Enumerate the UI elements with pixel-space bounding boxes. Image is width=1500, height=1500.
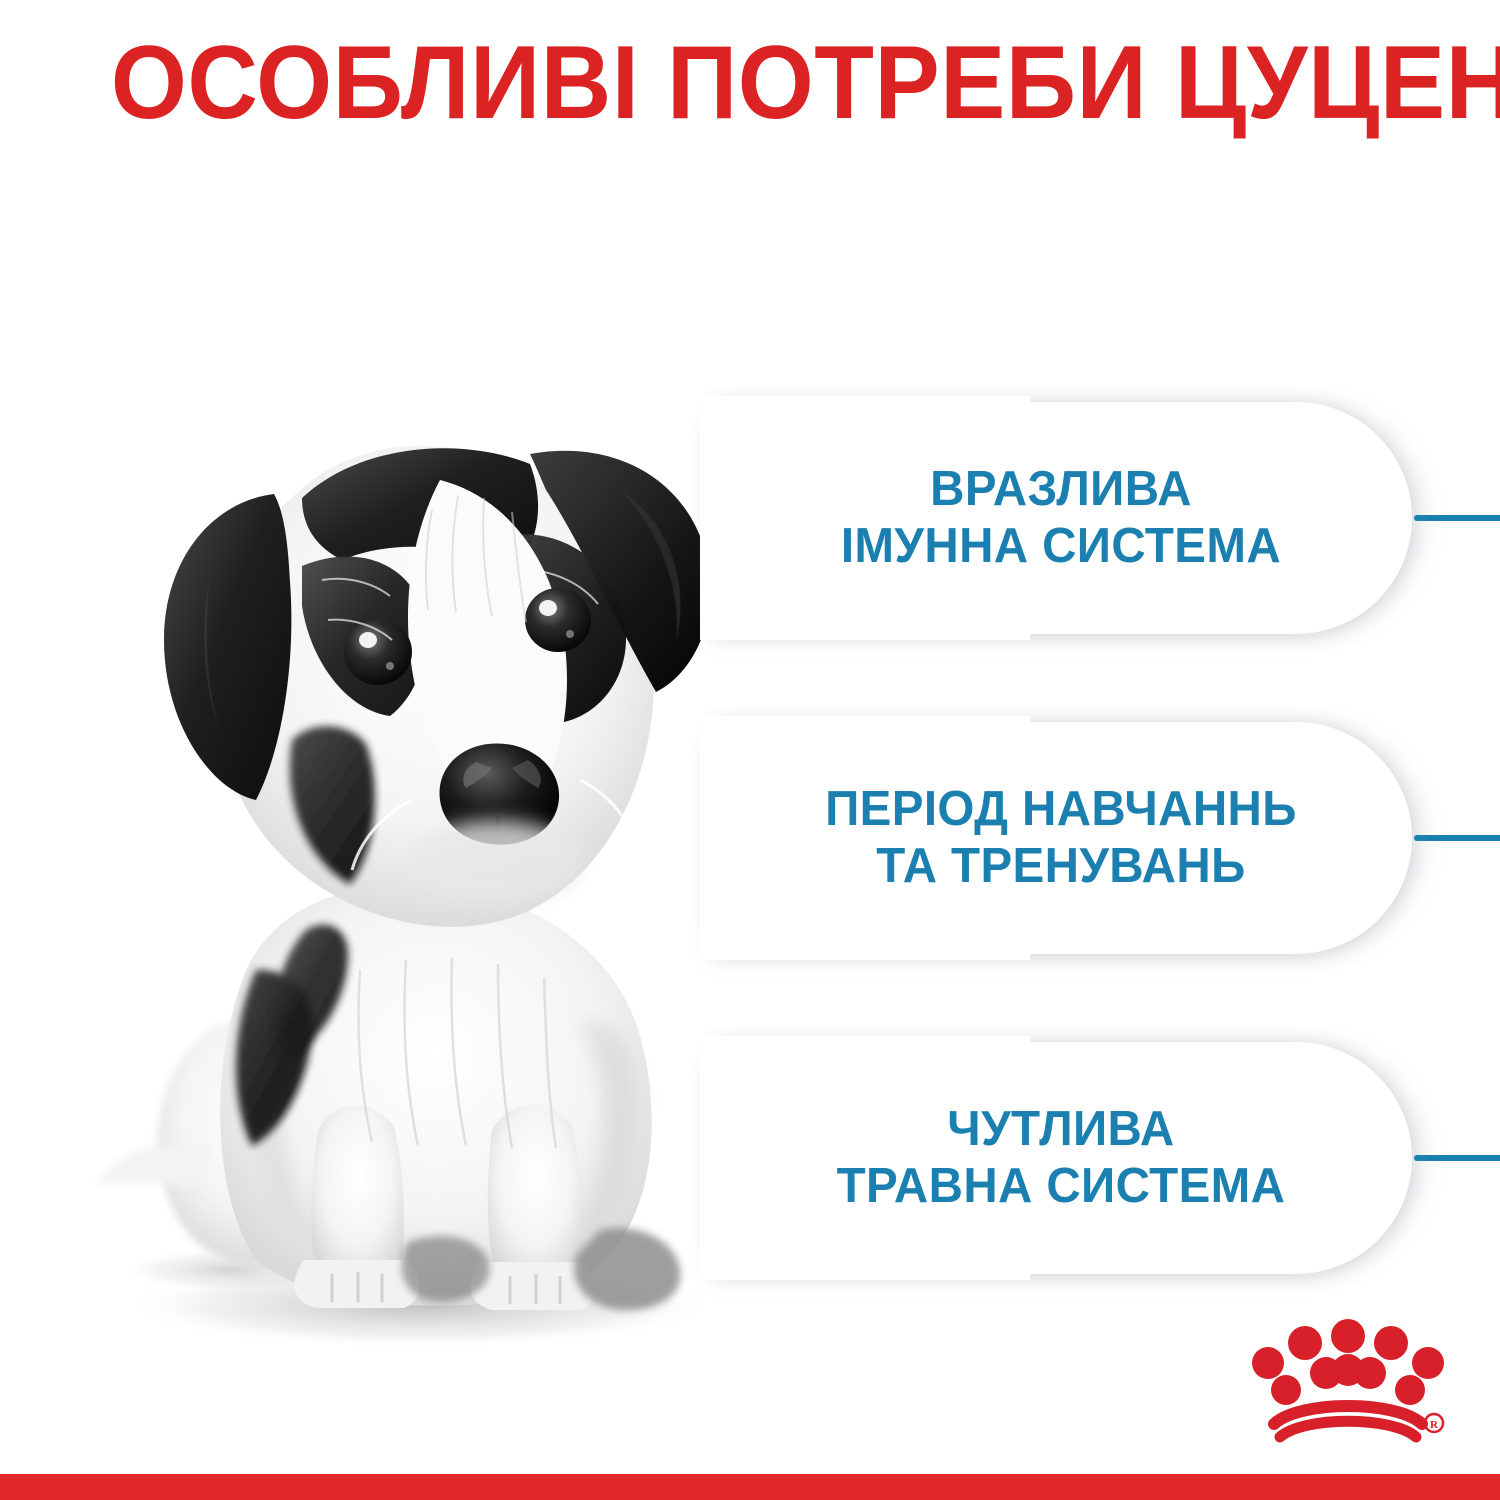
page-title: ОСОБЛИВІ ПОТРЕБИ ЦУЦЕНЯТ xyxy=(0,31,1500,135)
callout-label: ПЕРІОД НАВЧАННЬ ТА ТРЕНУВАНЬ xyxy=(782,781,1403,895)
callout-label-line2: ТРАВНА СИСТЕМА xyxy=(782,1158,1341,1215)
callout-connector-line xyxy=(1414,835,1500,841)
royal-canin-crown-logo: R xyxy=(1248,1318,1448,1448)
callout-connector-line xyxy=(1414,1155,1500,1161)
header-band: ОСОБЛИВІ ПОТРЕБИ ЦУЦЕНЯТ xyxy=(0,0,1500,165)
callout-digestive-system[interactable]: ЧУТЛИВА ТРАВНА СИСТЕМА xyxy=(700,1042,1412,1274)
trademark-symbol: R xyxy=(1430,1419,1439,1431)
callout-label-line1: ЧУТЛИВА xyxy=(782,1101,1341,1158)
poster-canvas: ОСОБЛИВІ ПОТРЕБИ ЦУЦЕНЯТ xyxy=(0,0,1500,1500)
callout-label-line1: ПЕРІОД НАВЧАННЬ xyxy=(782,781,1341,838)
callout-label-line2: ТА ТРЕНУВАНЬ xyxy=(782,838,1341,895)
callout-immune-system[interactable]: ВРАЗЛИВА ІМУННА СИСТЕМА xyxy=(700,402,1412,634)
callout-label: ЧУТЛИВА ТРАВНА СИСТЕМА xyxy=(782,1101,1403,1215)
bottom-accent-bar xyxy=(0,1474,1500,1500)
callout-list: ВРАЗЛИВА ІМУННА СИСТЕМА ПЕРІОД НАВЧАННЬ … xyxy=(700,380,1500,1340)
callout-label: ВРАЗЛИВА ІМУННА СИСТЕМА xyxy=(782,461,1403,575)
callout-training-period[interactable]: ПЕРІОД НАВЧАННЬ ТА ТРЕНУВАНЬ xyxy=(700,722,1412,954)
callout-label-line1: ВРАЗЛИВА xyxy=(782,461,1341,518)
callout-label-line2: ІМУННА СИСТЕМА xyxy=(782,518,1341,575)
callout-connector-line xyxy=(1414,515,1500,521)
